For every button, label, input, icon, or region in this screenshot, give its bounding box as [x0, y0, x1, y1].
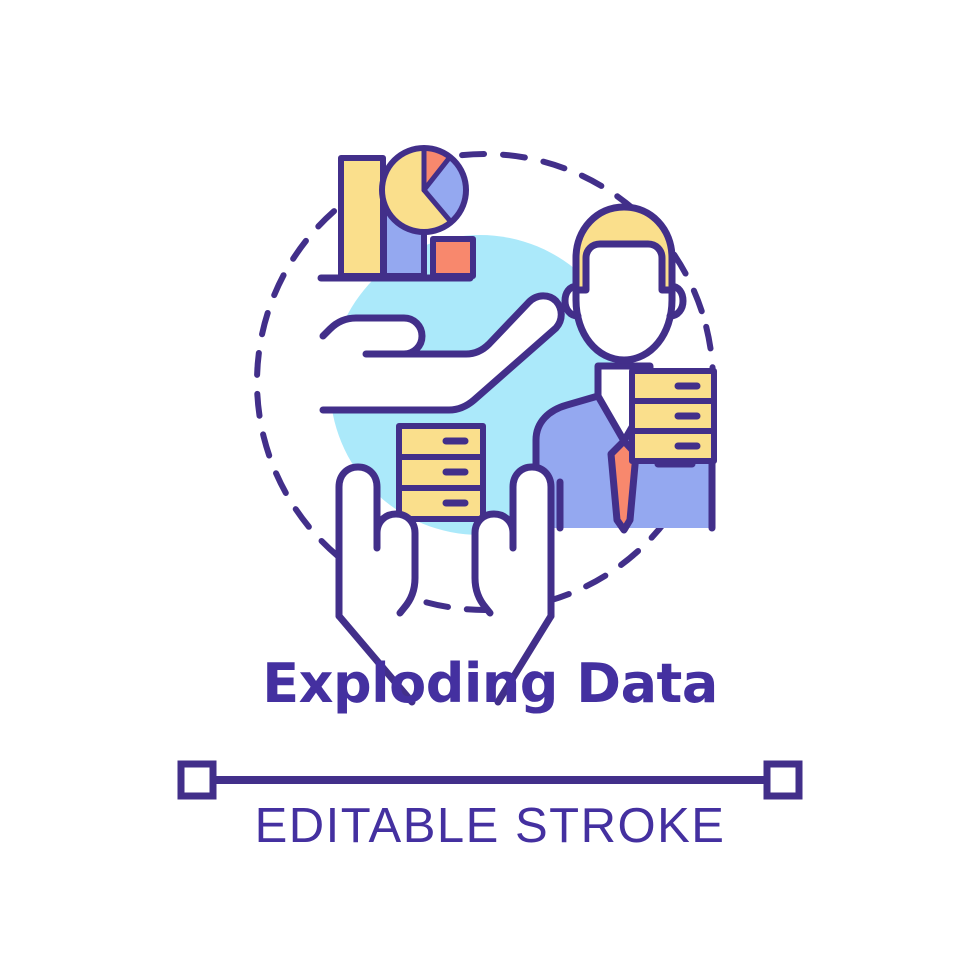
- right-stroke-handle: [767, 764, 799, 796]
- server-rack-center-slot-3: [399, 488, 483, 519]
- server-rack-right-slot-3: [632, 431, 714, 461]
- left-stroke-handle: [181, 764, 213, 796]
- server-rack-center-slot-1: [399, 426, 483, 457]
- server-rack-center-slot-2: [399, 457, 483, 488]
- stroke-bar: [181, 764, 799, 796]
- server-rack-right: [632, 371, 714, 461]
- server-rack-center: [399, 426, 483, 519]
- server-rack-right-slot-1: [632, 371, 714, 401]
- bar-chart-bar-3: [433, 239, 473, 276]
- pie-chart: [382, 148, 466, 232]
- exploding-data-illustration: [0, 0, 980, 980]
- server-rack-right-slot-2: [632, 401, 714, 431]
- lower-hand-right-edge: [498, 616, 551, 702]
- icon-canvas: Exploding Data EDITABLE STROKE: [0, 0, 980, 980]
- bar-chart-bar-1: [341, 158, 383, 276]
- lower-hand-left-edge: [339, 616, 412, 702]
